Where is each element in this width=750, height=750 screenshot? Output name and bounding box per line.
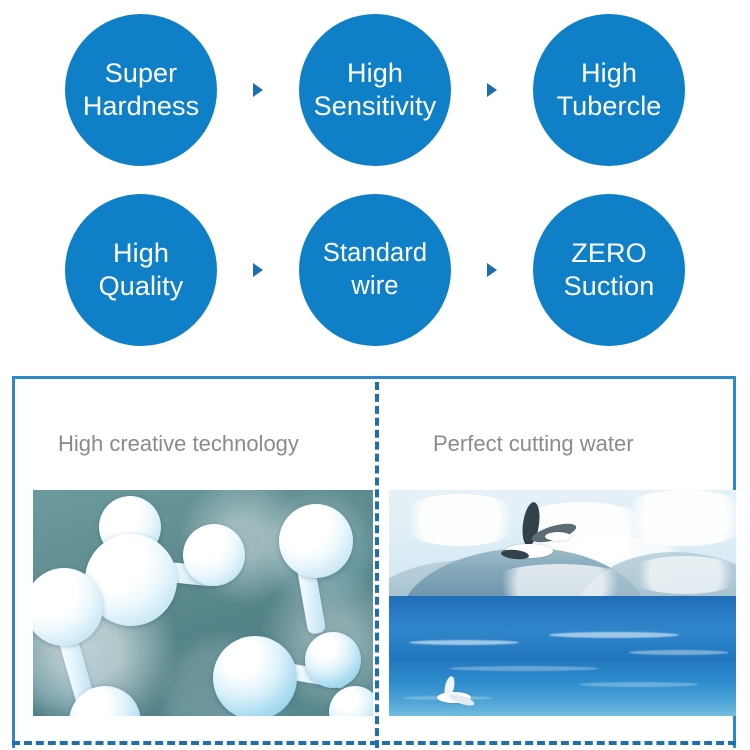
showcase-panel-inner: High creative technology [15,379,733,748]
play-arrow-icon [253,263,263,277]
feature-circle-zero-suction[interactable]: ZERO Suction [533,194,685,346]
play-arrow-icon [487,83,497,97]
play-arrow-icon [253,83,263,97]
feature-circle-standard-wire[interactable]: Standard wire [299,194,451,346]
feature-circle-super-hardness[interactable]: Super Hardness [65,14,217,166]
feature-label-line-2: wire [351,270,398,303]
seagull-large [501,504,581,560]
feature-row-2: High Quality Standard wire ZERO Suction [0,180,750,360]
feature-label-line-2: Tubercle [557,90,662,123]
feature-row-1: Super Hardness High Sensitivity High Tub… [0,0,750,180]
feature-label-line-1: Super [105,57,178,90]
panel-bottom-dashed-border [12,741,736,745]
feature-label-line-2: Hardness [83,90,199,123]
feature-label-line-2: Suction [564,270,655,303]
feature-label-line-1: High [113,237,169,270]
feature-label-line-1: High [581,57,637,90]
feature-circle-high-quality[interactable]: High Quality [65,194,217,346]
feature-label-line-1: Standard [323,237,427,270]
crystal-molecule-photo [33,490,373,716]
showcase-column-right: Perfect cutting water [373,379,736,748]
feature-flow-diagram: Super Hardness High Sensitivity High Tub… [0,0,750,360]
feature-label-line-1: ZERO [571,237,646,270]
feature-circle-high-tubercle[interactable]: High Tubercle [533,14,685,166]
showcase-column-left: High creative technology [15,379,373,748]
showcase-title-left: High creative technology [58,431,373,457]
feature-label-line-2: Quality [99,270,184,303]
feature-label-line-2: Sensitivity [314,90,437,123]
feature-label-line-1: High [347,57,403,90]
seagull-small [433,676,479,710]
showcase-title-right: Perfect cutting water [433,431,736,457]
play-arrow-icon [487,263,497,277]
sea-seagull-photo [389,490,736,716]
showcase-panel: High creative technology [12,376,736,748]
feature-circle-high-sensitivity[interactable]: High Sensitivity [299,14,451,166]
